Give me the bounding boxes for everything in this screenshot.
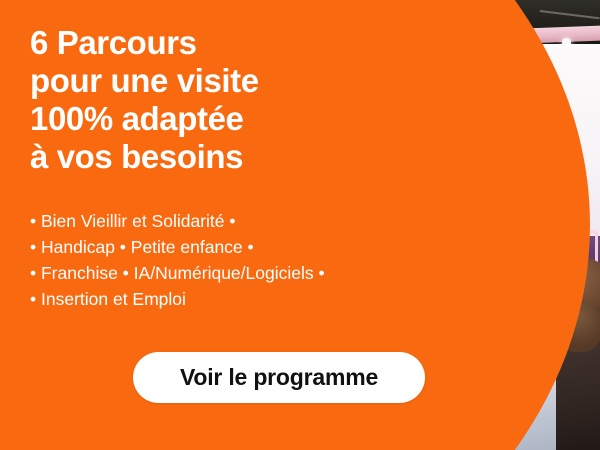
list-item: • Handicap • Petite enfance • [30, 234, 430, 260]
list-item: • Franchise • IA/Numérique/Logiciels • [30, 260, 430, 286]
list-item: • Bien Vieillir et Solidarité • [30, 208, 430, 234]
banner-root: 1 salon des services à la personne et de… [0, 0, 600, 450]
voir-le-programme-button[interactable]: Voir le programme [133, 352, 425, 403]
headline-line: à vos besoins [30, 138, 360, 176]
parcours-list: • Bien Vieillir et Solidarité • • Handic… [30, 208, 430, 312]
list-item: • Insertion et Emploi [30, 286, 430, 312]
page-title: 6 Parcours pour une visite 100% adaptée … [30, 24, 360, 176]
headline-line: 100% adaptée [30, 100, 360, 138]
headline-line: 6 Parcours [30, 24, 360, 62]
banner-content: 6 Parcours pour une visite 100% adaptée … [0, 0, 600, 450]
headline-line: pour une visite [30, 62, 360, 100]
